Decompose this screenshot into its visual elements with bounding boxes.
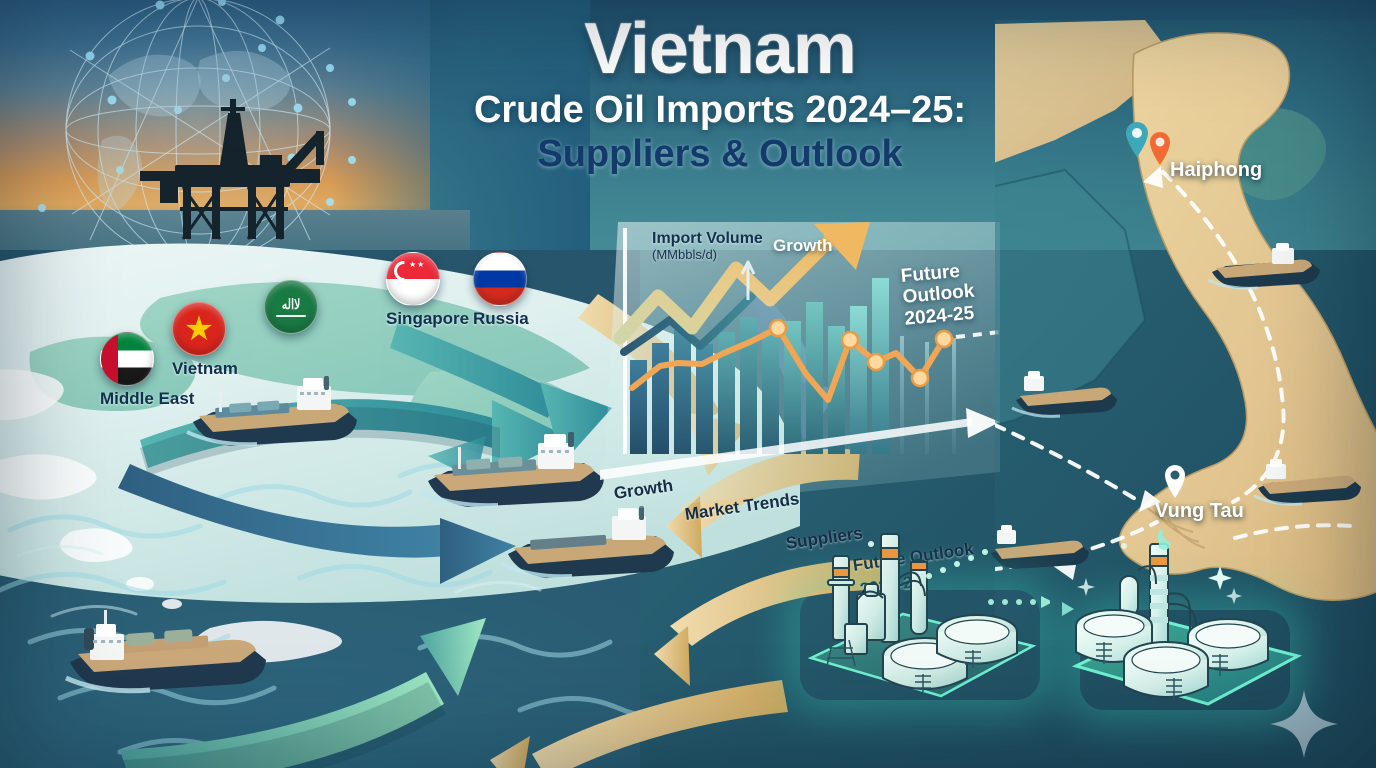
supplier-badge-russia[interactable]: Russia xyxy=(473,252,529,329)
supplier-label-vietnam: Vietnam xyxy=(172,359,238,379)
uae-flag-icon xyxy=(100,332,154,386)
refinery-facility-right xyxy=(1062,530,1312,720)
supplier-label-singapore: Singapore xyxy=(386,309,469,329)
supplier-label-russia: Russia xyxy=(473,309,529,329)
offshore-oil-rig-icon xyxy=(120,95,350,250)
supplier-badge-vietnam[interactable]: ★ Vietnam xyxy=(172,302,238,379)
map-label-haiphong: Haiphong xyxy=(1170,159,1262,182)
supplier-badge-saudi-arabia[interactable]: لااله xyxy=(264,280,318,334)
vietnam-flag-icon: ★ xyxy=(172,302,226,356)
saudi-arabia-flag-icon: لااله xyxy=(264,280,318,334)
map-pin-vung-tau[interactable] xyxy=(1163,463,1187,499)
map-pin-haiphong[interactable] xyxy=(1148,130,1172,166)
supplier-label-middle-east: Middle East xyxy=(100,389,194,409)
map-pin-teal[interactable] xyxy=(1124,120,1150,158)
singapore-flag-icon: ★★ xyxy=(386,252,440,306)
supplier-badge-singapore[interactable]: ★★ Singapore xyxy=(386,252,469,329)
russia-flag-icon xyxy=(473,252,527,306)
refinery-facility-left xyxy=(795,528,1050,708)
infographic-canvas: Middle East ★ Vietnam لااله ★★ Singapore… xyxy=(0,0,1376,768)
map-label-vung-tau: Vung Tau xyxy=(1155,500,1244,523)
